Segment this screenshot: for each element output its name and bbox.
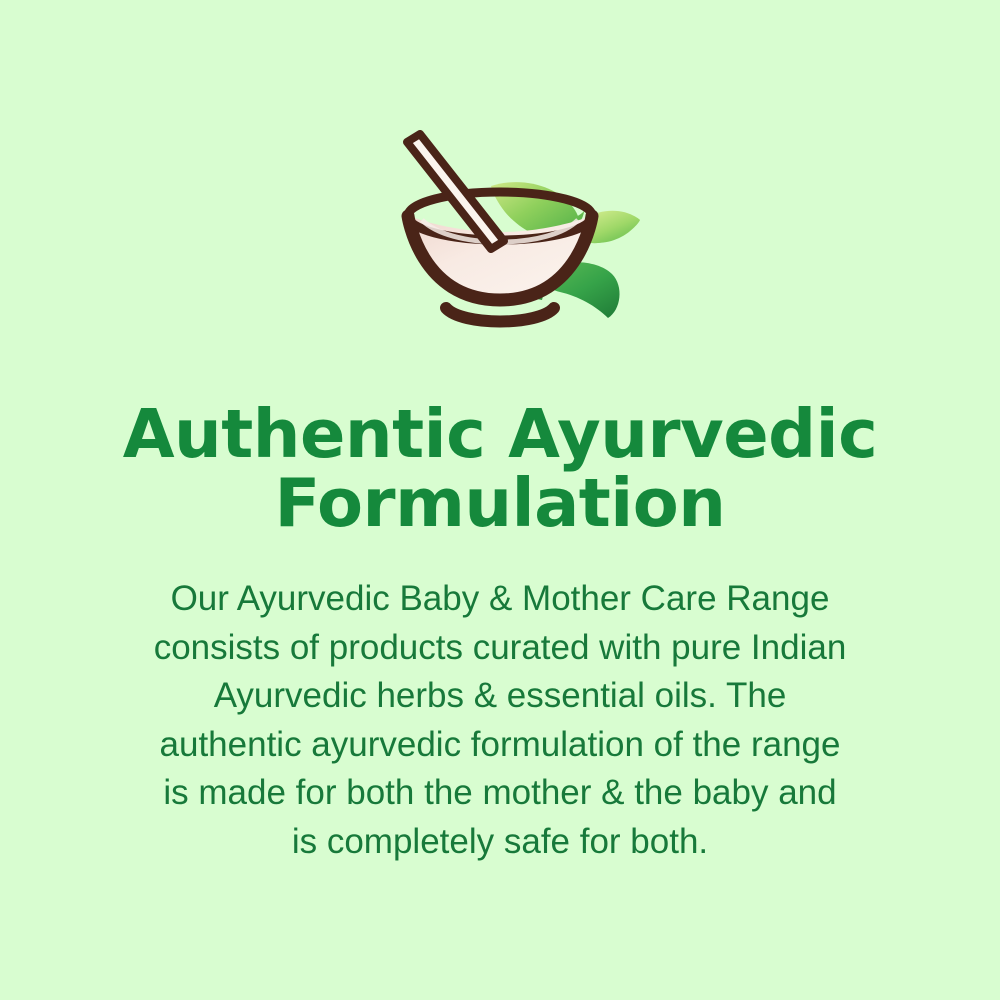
bowl-base bbox=[446, 308, 554, 322]
mortar-and-pestle-icon bbox=[350, 120, 650, 340]
body-line-3: Ayurvedic herbs & essential oils. The bbox=[70, 672, 930, 721]
benefit-card: Authentic Ayurvedic Formulation Our Ayur… bbox=[0, 0, 1000, 1000]
page-title: Authentic Ayurvedic Formulation bbox=[0, 401, 1000, 537]
body-line-1: Our Ayurvedic Baby & Mother Care Range bbox=[70, 575, 930, 624]
body-line-6: is completely safe for both. bbox=[70, 818, 930, 867]
body-line-4: authentic ayurvedic formulation of the r… bbox=[70, 721, 930, 770]
page-title-line-1: Authentic Ayurvedic bbox=[60, 401, 940, 468]
body-line-5: is made for both the mother & the baby a… bbox=[70, 769, 930, 818]
body-paragraph: Our Ayurvedic Baby & Mother Care Range c… bbox=[0, 575, 1000, 866]
page-title-line-2: Formulation bbox=[60, 470, 940, 537]
body-line-2: consists of products curated with pure I… bbox=[70, 624, 930, 673]
